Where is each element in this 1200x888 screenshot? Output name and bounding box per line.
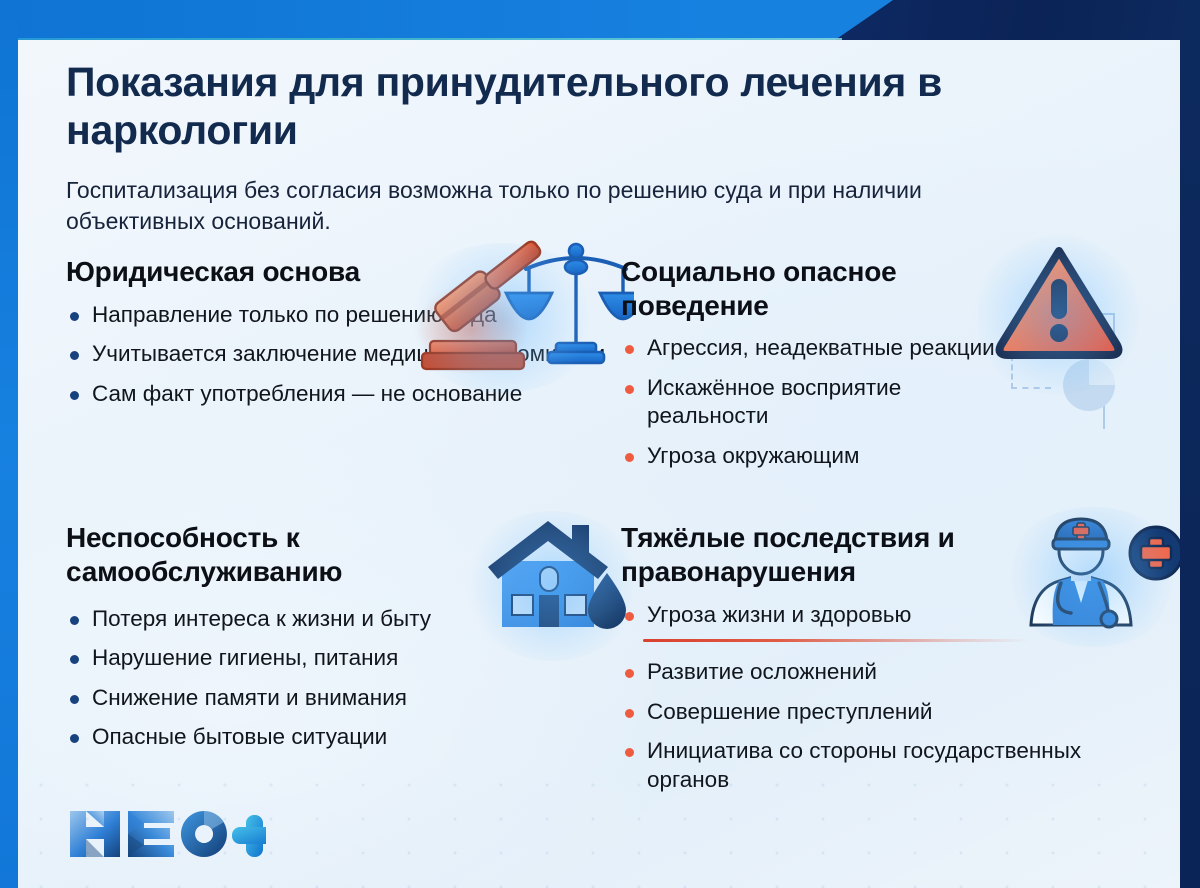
house-svg xyxy=(476,511,636,641)
list-item: Снижение памяти и внимания xyxy=(66,684,621,713)
section-socially-dangerous-behavior: Социально опасное поведение Агрессия, не… xyxy=(621,255,1136,481)
section-heading: Юридическая основа xyxy=(66,255,621,289)
section-list: Агрессия, неадекватные реакции Искажённо… xyxy=(621,334,1021,470)
list-item: Искажённое восприятие реальности xyxy=(621,374,1021,431)
list-item: Агрессия, неадекватные реакции xyxy=(621,334,1021,363)
sections-row-2: Неспособность к самообслуживанию Потеря … xyxy=(66,521,1136,805)
section-severe-consequences: Тяжёлые последствия и правонарушения Угр… xyxy=(621,521,1136,805)
sections-grid: Юридическая основа Направление только по… xyxy=(66,255,1136,805)
list-item: Совершение преступлений xyxy=(621,698,1136,727)
section-self-care-inability: Неспособность к самообслуживанию Потеря … xyxy=(66,521,621,805)
sections-row-1: Юридическая основа Направление только по… xyxy=(66,255,1136,481)
header: Показания для принудительного лечения в … xyxy=(66,58,1066,238)
section-heading: Социально опасное поведение xyxy=(621,255,991,322)
warning-triangle-svg xyxy=(989,241,1129,371)
section-legal-basis: Юридическая основа Направление только по… xyxy=(66,255,621,481)
section-heading: Неспособность к самообслуживанию xyxy=(66,521,486,588)
section-list: Развитие осложнений Совершение преступле… xyxy=(621,658,1136,794)
teal-accent-edge xyxy=(18,38,842,40)
list-item: Опасные бытовые ситуации xyxy=(66,723,621,752)
tick-icon xyxy=(1103,405,1105,429)
page-title: Показания для принудительного лечения в … xyxy=(66,58,1066,155)
right-accent-bar xyxy=(1180,0,1200,888)
poster-canvas: Показания для принудительного лечения в … xyxy=(18,40,1180,888)
house-icon xyxy=(476,511,636,646)
neo-plus-logo-icon xyxy=(66,805,266,861)
warning-triangle-icon xyxy=(989,241,1129,376)
page-subtitle: Госпитализация без согласия возможна тол… xyxy=(66,175,1066,238)
section-divider xyxy=(643,639,1028,642)
top-accent-bar-dark xyxy=(835,0,1200,40)
section-heading: Тяжёлые последствия и правонарушения xyxy=(621,521,1041,588)
left-accent-bar xyxy=(0,0,18,888)
list-item: Нарушение гигиены, питания xyxy=(66,644,621,673)
infographic-poster: Показания для принудительного лечения в … xyxy=(0,0,1200,888)
list-item: Угроза окружающим xyxy=(621,442,1021,471)
list-item: Инициатива со стороны государственных ор… xyxy=(621,737,1136,794)
list-item: Развитие осложнений xyxy=(621,658,1136,687)
brand-logo xyxy=(66,805,266,866)
